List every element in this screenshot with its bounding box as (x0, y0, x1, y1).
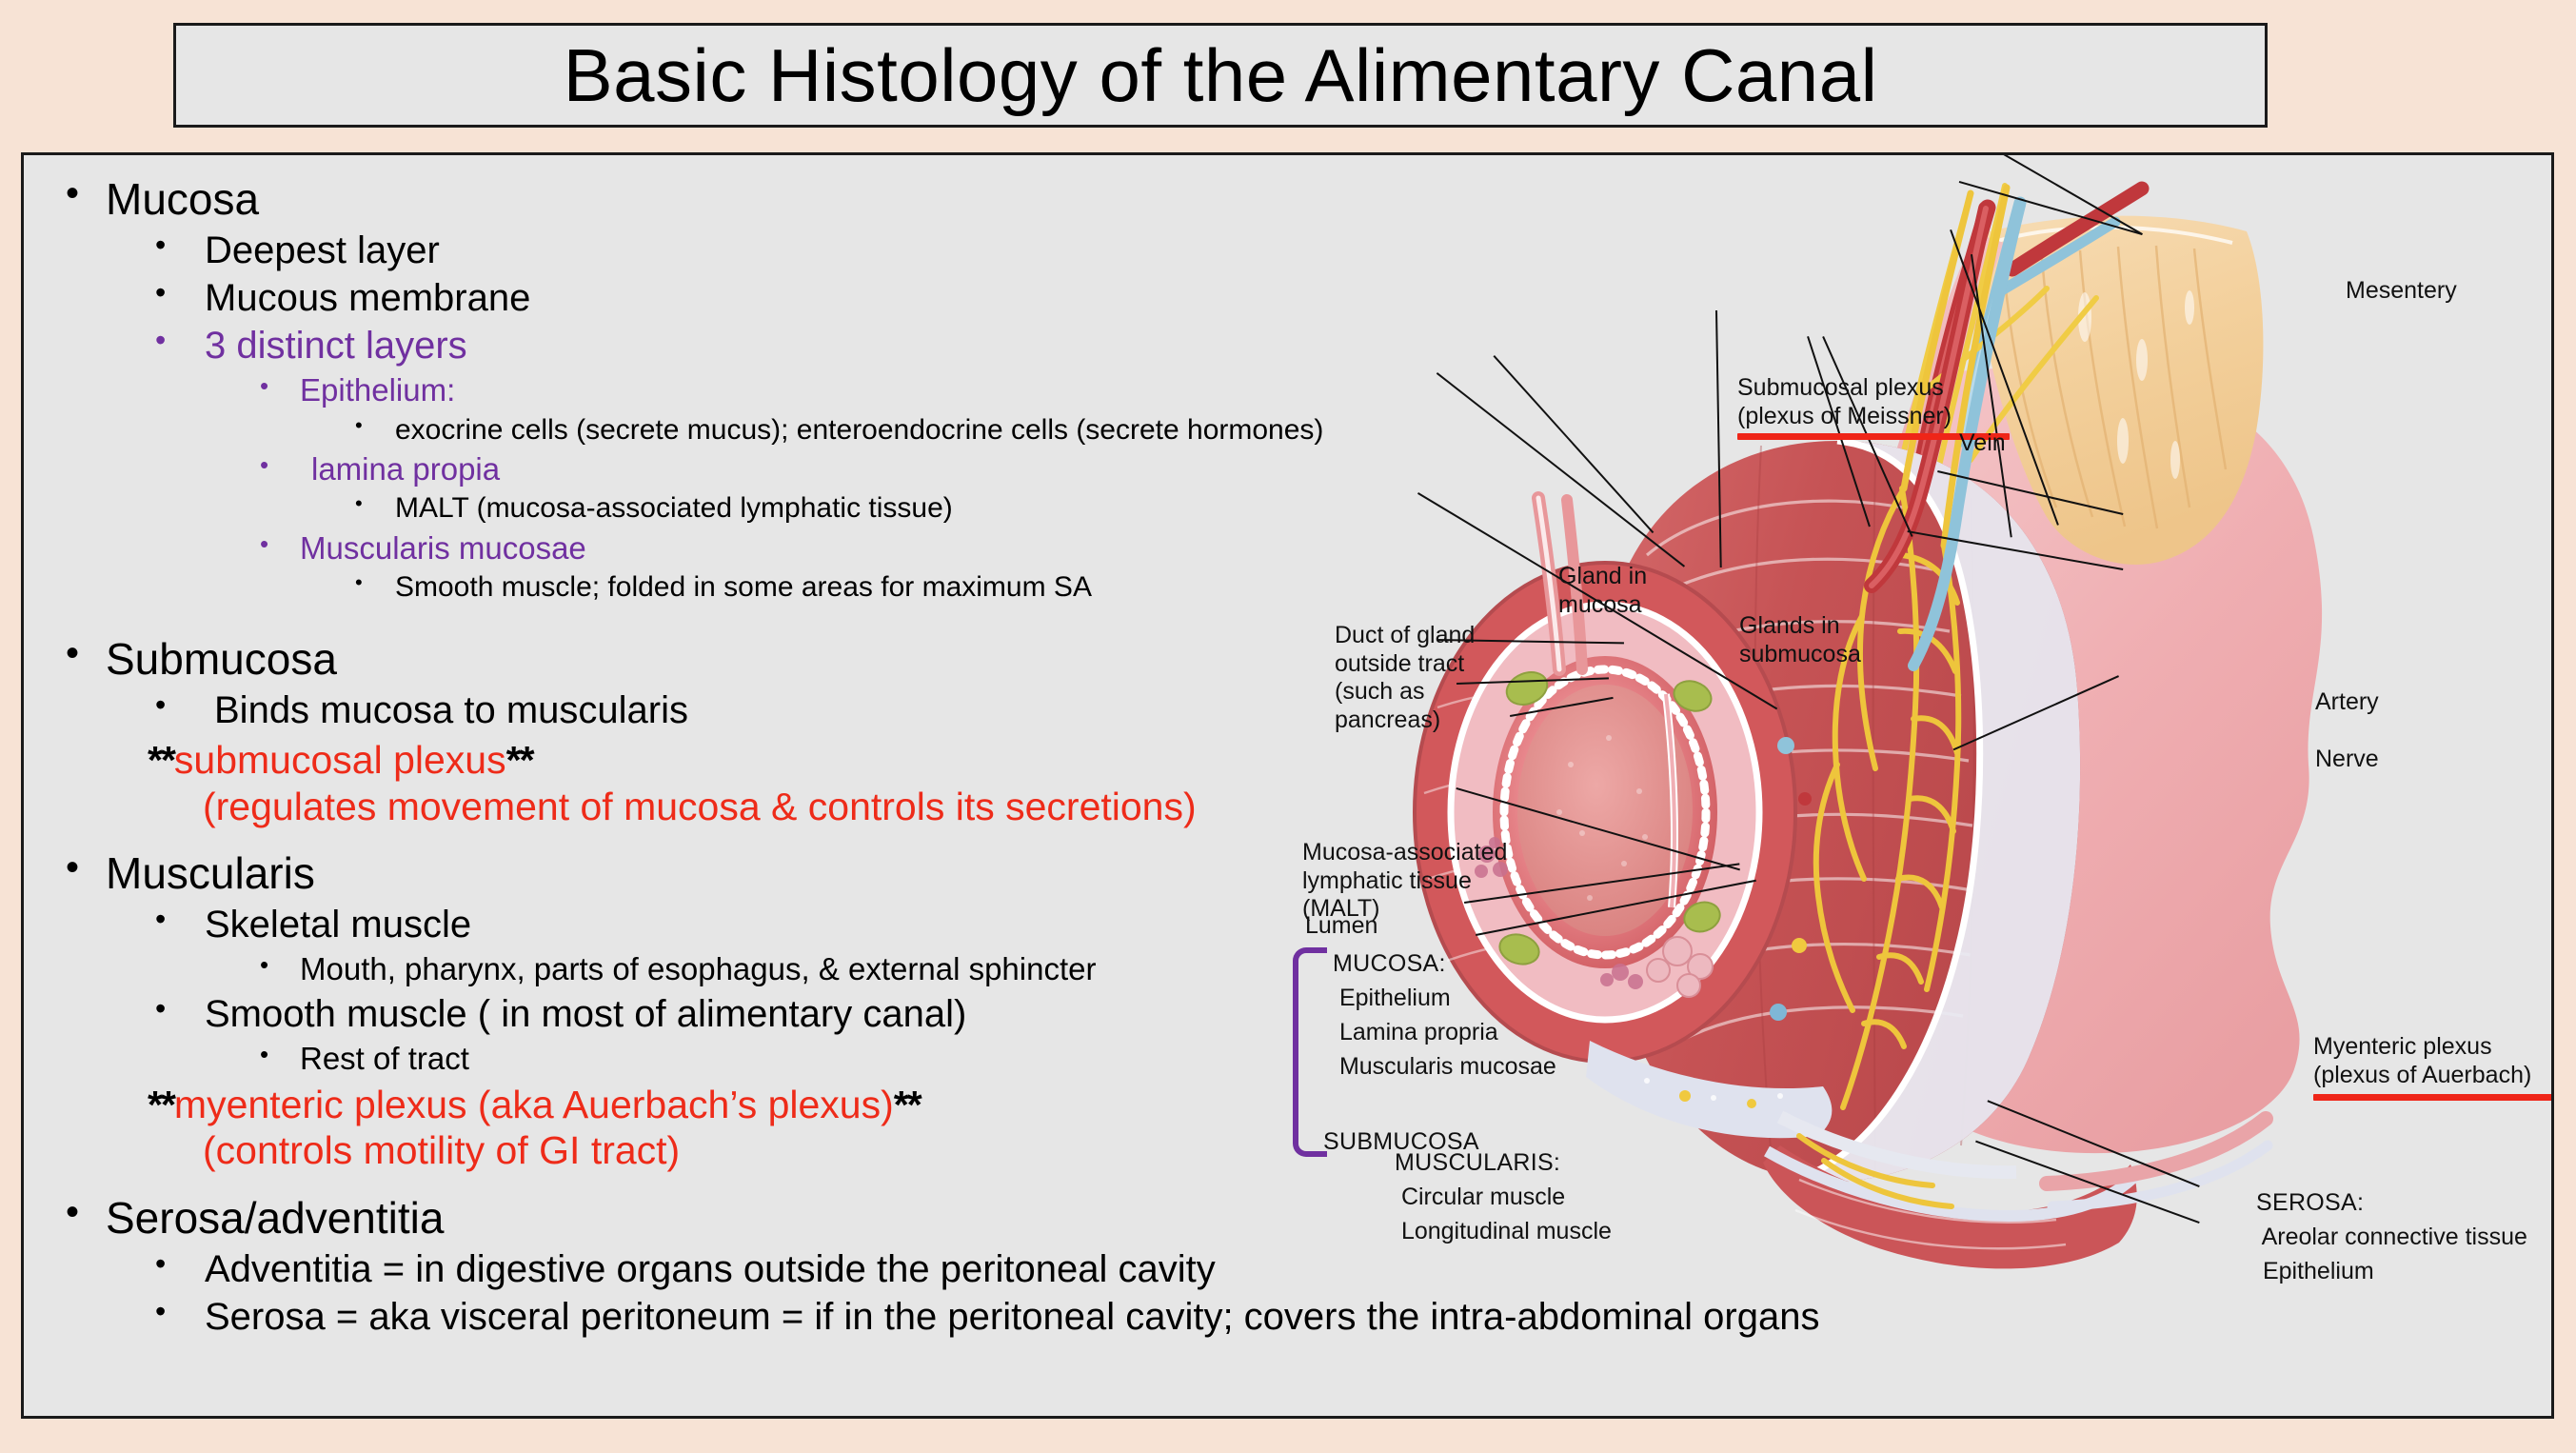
label-lumen: Lumen (1305, 912, 1377, 941)
bullet-glyph: • (355, 569, 363, 596)
slide-content-box: • Mucosa • Deepest layer • Mucous membra… (21, 152, 2554, 1419)
list-item-label: Rest of tract (300, 1039, 469, 1078)
list-item-binds-mucosa: • Binds mucosa to muscularis (24, 687, 1357, 733)
list-item-mucosa: • Mucosa (24, 174, 1357, 224)
list-item-mucous-membrane: • Mucous membrane (24, 275, 1357, 321)
list-item-label: Smooth muscle ( in most of alimentary ca… (205, 991, 966, 1037)
label-artery: Artery (2315, 688, 2379, 717)
list-item-adventitia-definition: • Adventitia = in digestive organs outsi… (24, 1246, 1357, 1292)
bullet-glyph: • (155, 901, 166, 937)
list-item-rest-of-tract: • Rest of tract (24, 1039, 1357, 1078)
list-item-label: Adventitia = in digestive organs outside… (205, 1246, 1216, 1292)
emphasis-myenteric-plexus: **myenteric plexus (aka Auerbach’s plexu… (24, 1082, 1357, 1127)
list-item-serosa-definition: • Serosa = aka visceral peritoneum = if … (24, 1294, 1357, 1340)
list-item-epithelium: • Epithelium: (24, 370, 1357, 409)
list-item-smooth-muscle: • Smooth muscle ( in most of alimentary … (24, 991, 1357, 1037)
spacer (24, 607, 1357, 628)
emphasis-label: myenteric plexus (aka Auerbach’s plexus) (174, 1083, 894, 1126)
emphasis-label: submucosal plexus (174, 738, 506, 782)
bullet-glyph: • (155, 1293, 166, 1329)
list-item-label: Mucous membrane (205, 275, 530, 321)
list-item-label: Epithelium: (300, 370, 455, 409)
label-mucosa-lamina-propria: Lamina propria (1333, 1019, 1498, 1047)
list-item-label: Muscularis (106, 848, 315, 898)
bullet-glyph: • (66, 846, 79, 890)
label-submucosal-plexus: Submucosal plexus (plexus of Meissner) (1737, 374, 1952, 430)
label-muscularis-circular: Circular muscle (1395, 1184, 1565, 1212)
list-item-label: Serosa/adventitia (106, 1193, 444, 1243)
list-item-muscularis-mucosae: • Muscularis mucosae (24, 528, 1357, 567)
list-item-muscularis: • Muscularis (24, 848, 1357, 898)
label-mesentery: Mesentery (2346, 277, 2457, 306)
bullet-glyph: • (155, 227, 166, 263)
list-item-label: MALT (mucosa-associated lymphatic tissue… (395, 490, 953, 527)
list-item-label: Deepest layer (205, 228, 440, 273)
label-muscularis-longitudinal: Longitudinal muscle (1395, 1218, 1612, 1246)
list-item-skeletal-detail: • Mouth, pharynx, parts of esophagus, & … (24, 949, 1357, 988)
list-item-malt-detail: • MALT (mucosa-associated lymphatic tiss… (24, 490, 1357, 527)
bullet-glyph: • (260, 528, 268, 560)
alimentary-canal-cross-section-diagram: Duct of gland outside tract (such as pan… (1304, 155, 2554, 1416)
spacer (24, 1180, 1357, 1187)
list-item-label: 3 distinct layers (205, 323, 467, 368)
bullet-glyph: • (260, 370, 268, 402)
label-mucosa-group: MUCOSA: (1333, 950, 1446, 979)
label-serosa-areolar: Areolar connective tissue (2256, 1224, 2527, 1252)
list-item-serosa-adventitia: • Serosa/adventitia (24, 1193, 1357, 1243)
spacer (24, 835, 1357, 843)
bullet-glyph: • (66, 172, 79, 216)
page-title: Basic Histology of the Alimentary Canal (564, 38, 1878, 112)
emphasis-stars-left: ** (148, 1083, 174, 1126)
list-item-deepest-layer: • Deepest layer (24, 228, 1357, 273)
list-item-muscularis-mucosae-detail: • Smooth muscle; folded in some areas fo… (24, 569, 1357, 606)
list-item-skeletal-muscle: • Skeletal muscle (24, 902, 1357, 947)
label-serosa-group: SEROSA: (2256, 1189, 2364, 1218)
label-duct-of-gland: Duct of gland outside tract (such as pan… (1335, 622, 1475, 734)
label-malt: Mucosa-associated lymphatic tissue (MALT… (1302, 839, 1507, 924)
list-item-label: Mucosa (106, 174, 259, 224)
label-myenteric-plexus: Myenteric plexus (plexus of Auerbach) (2313, 1033, 2531, 1089)
bullet-glyph: • (260, 449, 268, 481)
bullet-glyph: • (155, 990, 166, 1026)
mucosa-group-brace (1293, 947, 1327, 1157)
bullet-glyph: • (355, 490, 363, 517)
bullet-glyph: • (66, 1191, 79, 1235)
bullet-glyph: • (260, 1039, 268, 1070)
bullet-glyph: • (155, 687, 166, 723)
list-item-label: lamina propia (300, 449, 500, 488)
slide-title-box: Basic Histology of the Alimentary Canal (173, 23, 2268, 128)
label-nerve: Nerve (2315, 746, 2379, 774)
bullet-glyph: • (355, 412, 363, 439)
label-muscularis-group: MUSCULARIS: (1395, 1149, 1560, 1178)
label-mucosa-muscularis-mucosae: Muscularis mucosae (1333, 1053, 1556, 1082)
bullet-glyph: • (66, 632, 79, 676)
list-item-label: Skeletal muscle (205, 902, 471, 947)
list-item-submucosa: • Submucosa (24, 634, 1357, 684)
emphasis-stars-left: ** (148, 738, 174, 782)
myenteric-plexus-underline (2313, 1094, 2554, 1101)
list-item-lamina-propria: • lamina propia (24, 449, 1357, 488)
label-mucosa-epithelium: Epithelium (1333, 985, 1451, 1013)
label-vein: Vein (1959, 429, 2006, 458)
list-item-epithelium-detail: • exocrine cells (secrete mucus); entero… (24, 412, 1357, 448)
emphasis-stars-right: ** (506, 738, 533, 782)
bullet-glyph: • (155, 1245, 166, 1282)
label-serosa-epithelium: Epithelium (2256, 1258, 2374, 1286)
list-item-label: Smooth muscle; folded in some areas for … (395, 569, 1092, 606)
bullet-glyph: • (155, 274, 166, 310)
list-item-label: Muscularis mucosae (300, 528, 586, 567)
emphasis-submucosal-plexus-function: (regulates movement of mucosa & controls… (24, 784, 1357, 829)
emphasis-submucosal-plexus: **submucosal plexus** (24, 737, 1357, 783)
emphasis-stars-right: ** (894, 1083, 921, 1126)
emphasis-myenteric-plexus-function: (controls motility of GI tract) (24, 1127, 1357, 1173)
bullet-glyph: • (260, 949, 268, 981)
list-item-label: Mouth, pharynx, parts of esophagus, & ex… (300, 949, 1096, 988)
list-item-label: Submucosa (106, 634, 337, 684)
list-item-three-distinct-layers: • 3 distinct layers (24, 323, 1357, 368)
outline-list: • Mucosa • Deepest layer • Mucous membra… (24, 155, 1357, 1416)
list-item-label: Binds mucosa to muscularis (205, 687, 688, 733)
label-gland-in-mucosa: Gland in mucosa (1558, 563, 1647, 619)
label-glands-in-submucosa: Glands in submucosa (1739, 612, 1861, 668)
list-item-label: exocrine cells (secrete mucus); enteroen… (395, 412, 1323, 448)
bullet-glyph: • (155, 322, 166, 358)
